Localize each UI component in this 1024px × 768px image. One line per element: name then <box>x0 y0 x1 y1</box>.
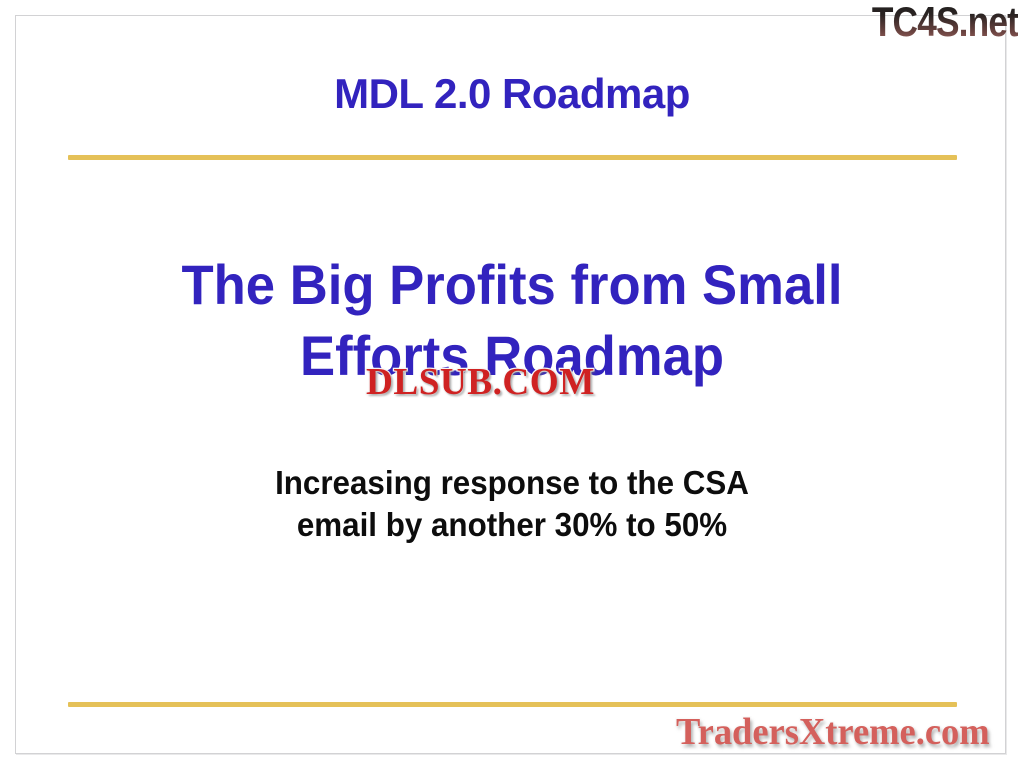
subtext-line-1: Increasing response to the CSA <box>85 462 940 504</box>
subtext: Increasing response to the CSA email by … <box>85 462 940 546</box>
headline-line-1: The Big Profits from Small <box>89 250 935 321</box>
page-title: MDL 2.0 Roadmap <box>0 72 1024 116</box>
subtext-line-2: email by another 30% to 50% <box>85 504 940 546</box>
divider-bottom <box>68 702 957 707</box>
watermark-dlsub: DLSUB.COM <box>366 360 595 404</box>
watermark-tradersxtreme: TradersXtreme.com <box>676 710 990 754</box>
divider-top <box>68 155 957 160</box>
watermark-tc4s: TC4S.net <box>872 0 1018 46</box>
slide-canvas: MDL 2.0 Roadmap The Big Profits from Sma… <box>0 0 1024 768</box>
